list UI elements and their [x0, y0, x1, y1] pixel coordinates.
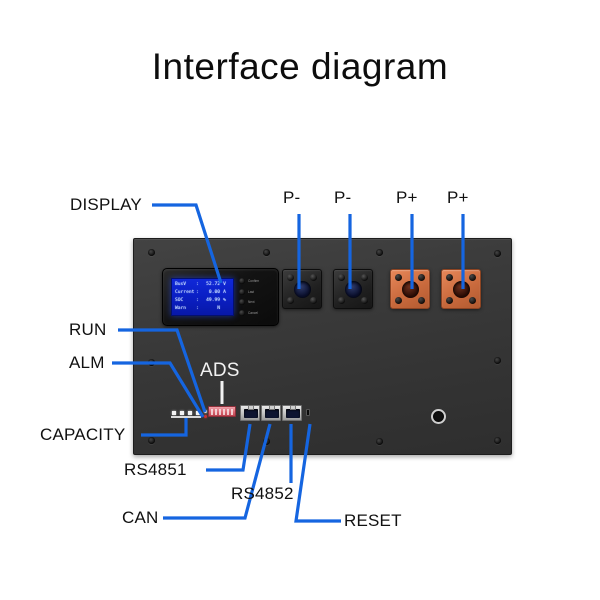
dip-switch-lever[interactable] [215, 409, 217, 415]
round-button-icon [239, 299, 245, 305]
terminal-screw-icon [310, 297, 317, 304]
run-led [204, 410, 207, 413]
lcd-row-unit: % [220, 297, 229, 305]
terminal-screw-icon [395, 274, 402, 281]
terminal-screw-icon [361, 274, 368, 281]
terminal-screw-icon [310, 274, 317, 281]
capacity-underline [171, 416, 201, 418]
terminal-screw-icon [446, 297, 453, 304]
terminal-screw-icon [446, 274, 453, 281]
terminal-bore [402, 281, 419, 298]
lcd-button-group: Confirm Last Next Cancel [239, 276, 275, 319]
rj45-port-rs4852[interactable] [282, 405, 302, 421]
terminal-screw-icon [338, 274, 345, 281]
dip-switch-lever[interactable] [227, 409, 229, 415]
dip-switch-lever[interactable] [231, 409, 233, 415]
terminal-screw-icon [338, 297, 345, 304]
panel-screw [148, 359, 155, 366]
dip-switch-lever[interactable] [223, 409, 225, 415]
reset-pinhole[interactable] [306, 409, 310, 416]
ads-dip-switch[interactable] [208, 406, 236, 417]
capacity-led [188, 411, 192, 415]
label-ads: ADS [200, 360, 240, 382]
panel-screw [494, 250, 501, 257]
lcd-row-key: Current [175, 289, 196, 297]
lcd-button-label: Last [248, 290, 254, 294]
label-p-plus-1: P+ [396, 188, 418, 208]
label-can: CAN [122, 508, 159, 528]
lcd-button-label: Next [248, 300, 255, 304]
lcd-row-key: BusV [175, 281, 196, 289]
page-title: Interface diagram [0, 46, 600, 88]
terminal-bore [453, 281, 470, 298]
lcd-row-unit: V [220, 281, 229, 289]
label-display: DISPLAY [70, 195, 142, 215]
lcd-row-key: SOC [175, 297, 196, 305]
lcd-row-unit: A [220, 289, 229, 297]
lcd-row-value: 49.99 [201, 297, 220, 305]
terminal-p-minus-2[interactable] [333, 269, 373, 309]
dip-switch-lever[interactable] [219, 409, 221, 415]
terminal-screw-icon [469, 297, 476, 304]
round-button-icon [239, 310, 245, 316]
lcd-button-cancel[interactable]: Cancel [239, 308, 275, 319]
diagram-canvas: Interface diagram BusV : 52.72 V Current… [0, 0, 600, 600]
lcd-button-last[interactable]: Last [239, 287, 275, 298]
panel-screw [263, 249, 270, 256]
panel-screw [376, 438, 383, 445]
lcd-row-value: 0.00 [201, 289, 220, 297]
panel-screw [263, 438, 270, 445]
lcd-button-label: Confirm [248, 279, 259, 283]
terminal-screw-icon [418, 274, 425, 281]
label-capacity: CAPACITY [40, 425, 125, 445]
capacity-led [196, 411, 200, 415]
lcd-button-next[interactable]: Next [239, 297, 275, 308]
panel-round-hole [431, 409, 446, 424]
label-rs4852: RS4852 [231, 484, 294, 504]
terminal-screw-icon [287, 297, 294, 304]
round-button-icon [239, 289, 245, 295]
rj45-port-rs4851[interactable] [240, 405, 260, 421]
rj45-tab-icon [269, 406, 275, 410]
rj45-port-can[interactable] [261, 405, 281, 421]
panel-screw [494, 357, 501, 364]
dip-switch-lever[interactable] [211, 409, 213, 415]
lcd-row: Warn : N [175, 305, 231, 313]
round-button-icon [239, 278, 245, 284]
terminal-screw-icon [418, 297, 425, 304]
panel-screw [376, 249, 383, 256]
lcd-row: Current : 0.00 A [175, 289, 231, 297]
lcd-row-unit [220, 305, 229, 313]
label-p-plus-2: P+ [447, 188, 469, 208]
panel-screw [494, 437, 501, 444]
lcd-display-module[interactable]: BusV : 52.72 V Current : 0.00 A SOC : 49… [162, 268, 279, 326]
label-p-minus-2: P- [334, 188, 351, 208]
alm-led [204, 415, 207, 418]
terminal-screw-icon [469, 274, 476, 281]
label-reset: RESET [344, 511, 402, 531]
label-run: RUN [69, 320, 106, 340]
rj45-mouth [265, 409, 279, 418]
capacity-led [172, 411, 176, 415]
terminal-screw-icon [361, 297, 368, 304]
lcd-row: SOC : 49.99 % [175, 297, 231, 305]
lcd-row-key: Warn [175, 305, 196, 313]
terminal-bore [294, 281, 311, 298]
capacity-led [180, 411, 184, 415]
label-p-minus-1: P- [283, 188, 300, 208]
lcd-screen: BusV : 52.72 V Current : 0.00 A SOC : 49… [171, 278, 234, 316]
rj45-tab-icon [248, 406, 254, 410]
label-rs4851: RS4851 [124, 460, 187, 480]
terminal-p-minus-1[interactable] [282, 269, 322, 309]
panel-screw [148, 437, 155, 444]
terminal-p-plus-1[interactable] [390, 269, 430, 309]
lcd-row-value: 52.72 [201, 281, 220, 289]
lcd-button-confirm[interactable]: Confirm [239, 276, 275, 287]
terminal-screw-icon [395, 297, 402, 304]
terminal-screw-icon [287, 274, 294, 281]
rj45-mouth [286, 409, 300, 418]
panel-screw [148, 249, 155, 256]
rj45-tab-icon [290, 406, 296, 410]
terminal-p-plus-2[interactable] [441, 269, 481, 309]
label-alm: ALM [69, 353, 105, 373]
lcd-row-value: N [201, 305, 220, 313]
terminal-bore [345, 281, 362, 298]
lcd-row: BusV : 52.72 V [175, 281, 231, 289]
rj45-mouth [244, 409, 258, 418]
lcd-button-label: Cancel [248, 311, 258, 315]
